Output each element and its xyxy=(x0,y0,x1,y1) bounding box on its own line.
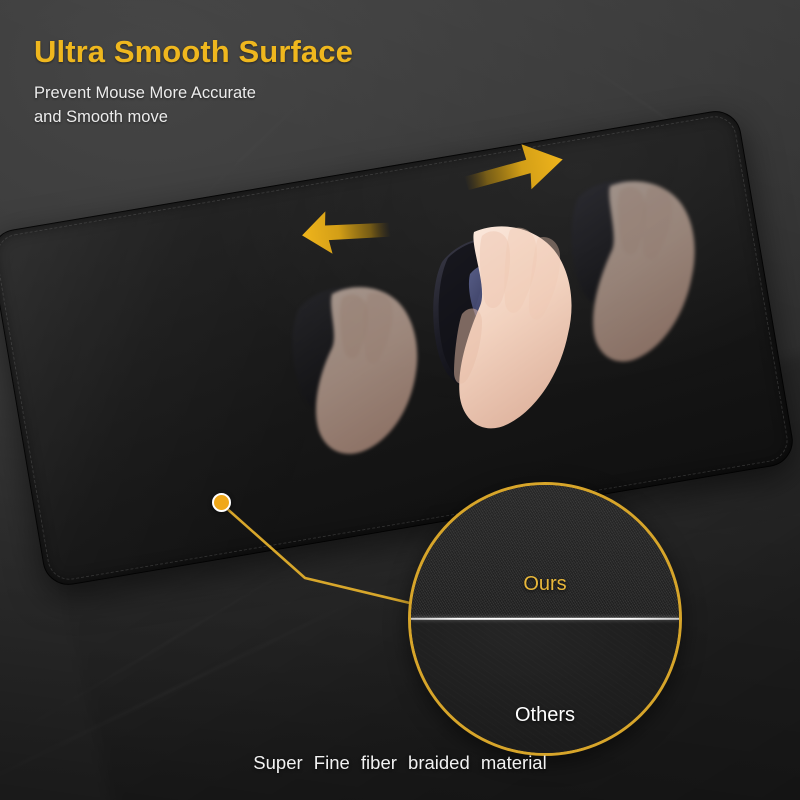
subheadline-line-1: Prevent Mouse More Accurate xyxy=(34,82,256,106)
subheadline-line-2: and Smooth move xyxy=(34,106,256,130)
others-label: Others xyxy=(411,704,679,727)
surface-comparison-circle: Ours Others xyxy=(408,482,682,756)
left-motion-arrow-icon xyxy=(297,201,395,264)
headline: Ultra Smooth Surface xyxy=(34,34,353,70)
comparison-divider xyxy=(411,618,679,620)
hand-on-mouse-center xyxy=(418,218,668,463)
ours-label: Ours xyxy=(411,573,679,596)
callout-anchor-dot xyxy=(212,493,231,512)
ours-fabric-swatch xyxy=(411,485,679,619)
subheadline: Prevent Mouse More Accurate and Smooth m… xyxy=(34,82,256,130)
material-caption: Super Fine fiber braided material xyxy=(0,752,800,774)
product-marketing-image: Ultra Smooth Surface Prevent Mouse More … xyxy=(0,0,800,800)
others-fabric-swatch xyxy=(411,619,679,753)
